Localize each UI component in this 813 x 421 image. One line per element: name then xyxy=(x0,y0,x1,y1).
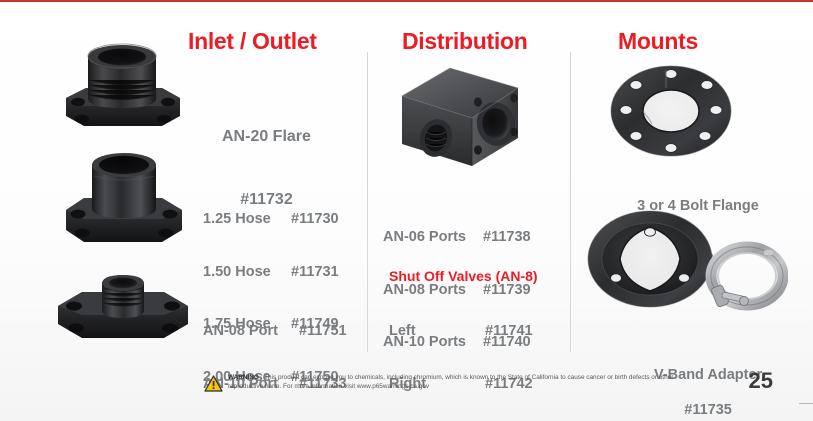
top-rule-divider xyxy=(0,0,813,2)
spec-row: AN-06 Ports #11738 xyxy=(383,229,531,247)
spec-label: AN-08 Port xyxy=(203,323,299,341)
spec-part-number: #11751 xyxy=(299,323,347,341)
spec-row: 1.50 Hose #11731 xyxy=(203,264,339,282)
spec-label: Left xyxy=(389,323,485,341)
spec-label: 1.50 Hose xyxy=(203,264,291,282)
spec-part-number: #11738 xyxy=(483,229,531,247)
product-image-hose-fitting xyxy=(58,142,188,254)
prop-65-warning: WARNING : This product can expose you to… xyxy=(204,374,688,392)
spec-label: AN-06 Ports xyxy=(383,229,483,247)
spec-part-number: #11730 xyxy=(291,211,339,229)
product-image-bolt-flange xyxy=(608,62,734,160)
spec-list-v-band: V-Band Adapter #11735 V-Band Clamp #1173… xyxy=(580,314,812,421)
spec-list-shut-off-valves: Left #11741 Right #11742 Left Nitro #117… xyxy=(389,288,533,421)
spec-part-number: #11731 xyxy=(291,264,339,282)
spec-label: 1.25 Hose xyxy=(203,211,291,229)
column-heading-mounts: Mounts xyxy=(618,28,698,55)
warning-line-1: This product can expose you to chemicals… xyxy=(264,374,566,381)
warning-triangle-icon xyxy=(204,375,223,392)
spec-row: Left #11741 xyxy=(389,323,533,341)
spec-part-number: #11741 xyxy=(485,323,533,341)
spec-list-port-fittings: AN-08 Port #11751 AN-10 Port #11733 AN-1… xyxy=(203,288,347,421)
spec-title: AN-20 Flare xyxy=(222,126,311,147)
spec-row: AN-08 Port #11751 xyxy=(203,323,347,341)
catalog-page: Inlet / Outlet Distribution Mounts xyxy=(0,0,813,421)
page-number: 25 xyxy=(749,368,773,394)
product-image-an-20-flare xyxy=(58,36,186,144)
warning-label: WARNING xyxy=(228,374,259,381)
warning-text: WARNING : This product can expose you to… xyxy=(228,374,688,391)
product-image-distribution-block xyxy=(392,62,528,178)
column-heading-distribution: Distribution xyxy=(402,28,527,55)
column-heading-inlet-outlet: Inlet / Outlet xyxy=(188,28,317,55)
product-image-threaded-port-fitting xyxy=(52,266,194,354)
spec-row: 1.25 Hose #11730 xyxy=(203,211,339,229)
product-image-v-band-adapter-and-clamp xyxy=(582,206,788,312)
subheading-shut-off-valves: Shut Off Valves (AN-8) xyxy=(389,268,538,284)
column-divider-2 xyxy=(570,52,571,352)
spec-part-number: #11735 xyxy=(684,402,732,418)
column-divider-1 xyxy=(367,52,368,352)
